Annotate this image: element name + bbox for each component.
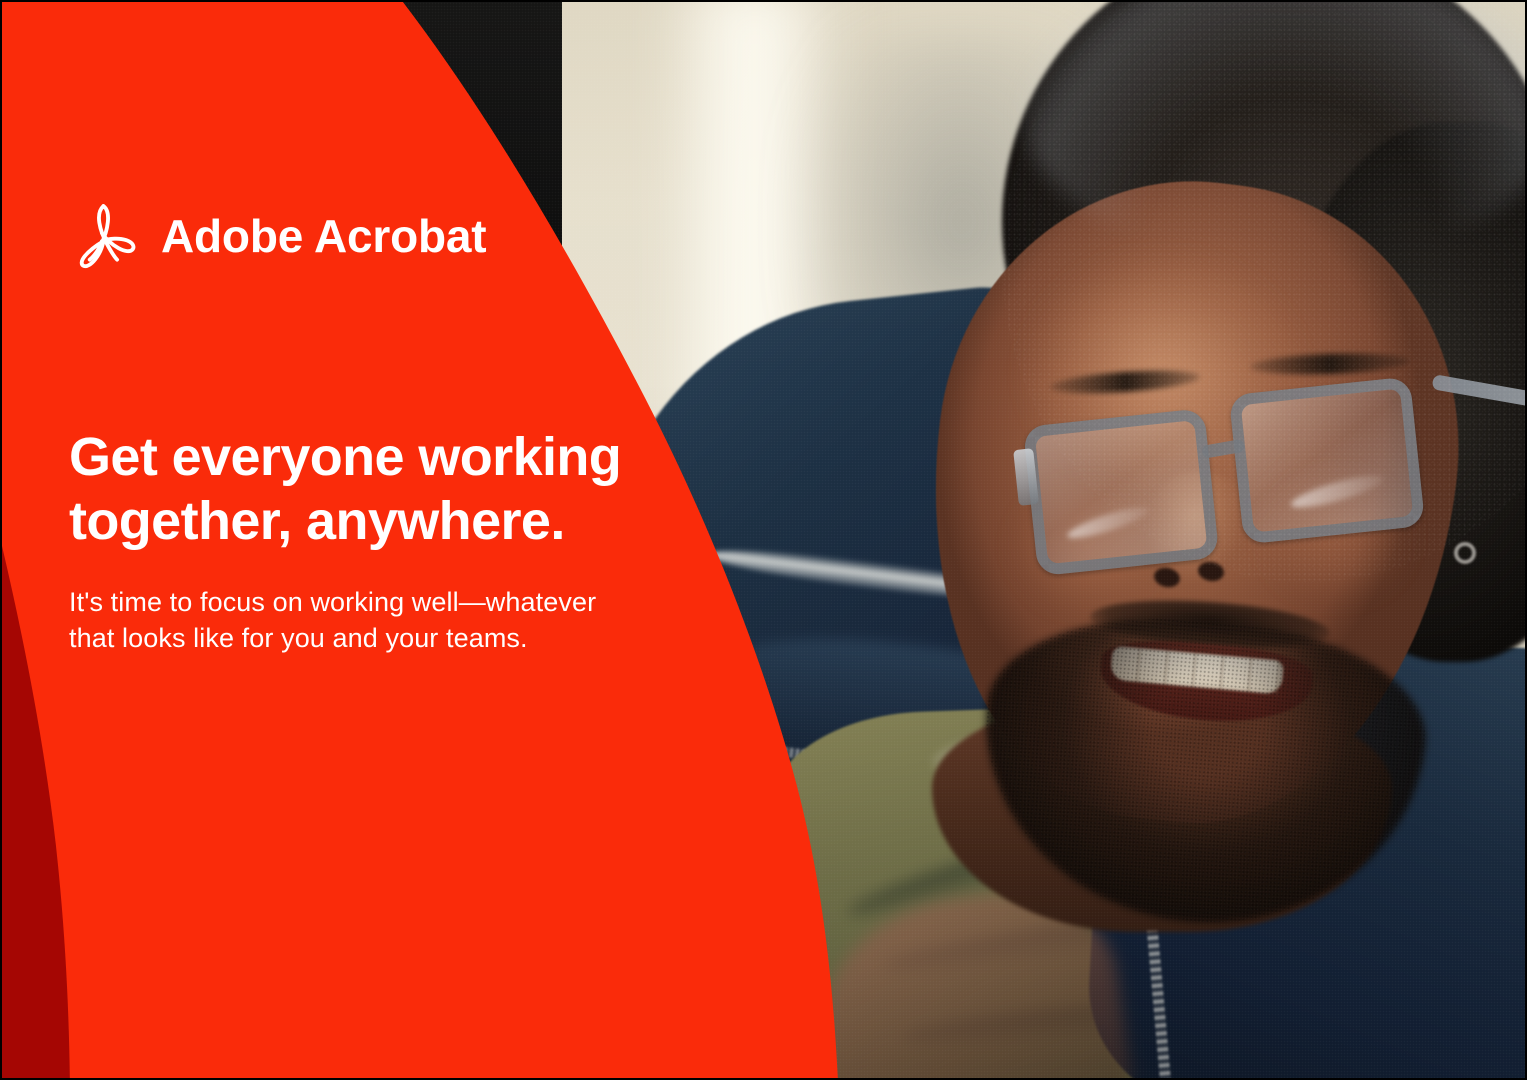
adobe-acrobat-hero-banner: Adobe Acrobat Get everyone working toget… xyxy=(0,0,1527,1080)
banner-content: Adobe Acrobat Get everyone working toget… xyxy=(2,2,1525,1078)
brand-name-label: Adobe Acrobat xyxy=(161,213,486,259)
subtitle-text: It's time to focus on working well—whate… xyxy=(69,584,649,657)
brand-lockup: Adobe Acrobat xyxy=(69,198,486,274)
page-title: Get everyone working together, anywhere. xyxy=(69,426,689,553)
acrobat-a-logo-icon xyxy=(69,198,143,274)
